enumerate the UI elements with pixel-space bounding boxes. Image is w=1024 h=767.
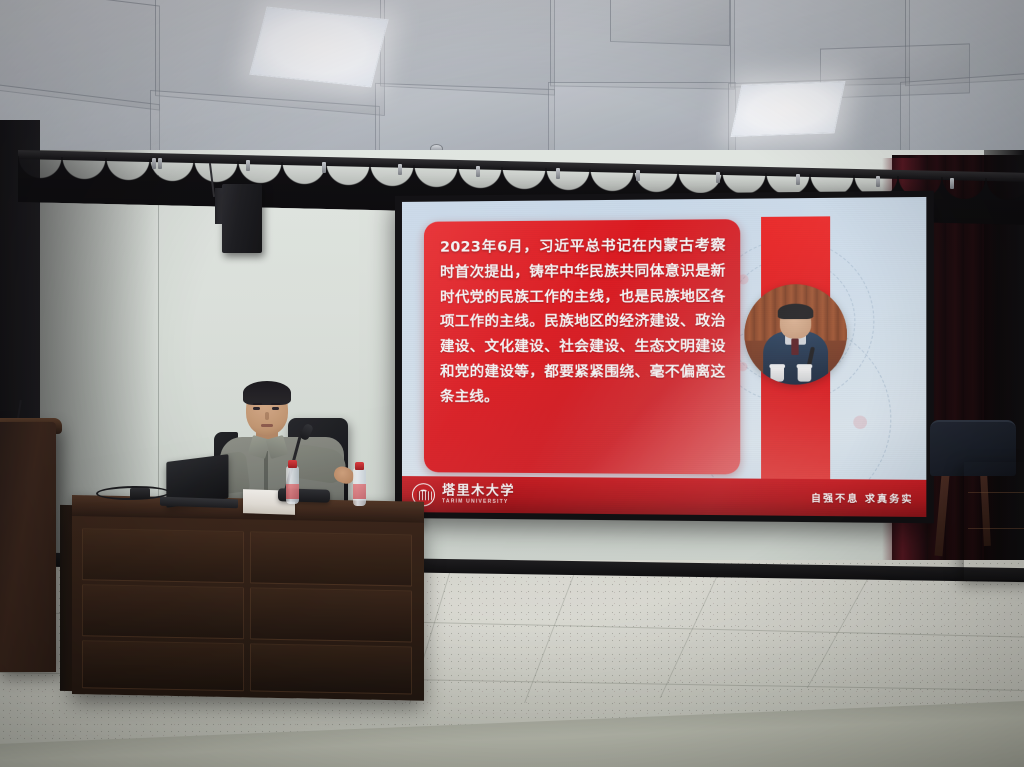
side-desk-seam bbox=[968, 492, 1024, 493]
curtain-clip-icon bbox=[796, 174, 800, 185]
water-bottle bbox=[353, 468, 366, 506]
portrait-teacup-icon bbox=[771, 367, 784, 382]
person-eye bbox=[272, 407, 279, 410]
ceiling bbox=[0, 0, 1024, 172]
desk-device bbox=[130, 488, 150, 499]
ceiling-light-panel-right bbox=[730, 81, 845, 137]
curtain-clip-icon bbox=[246, 160, 250, 171]
desk-panel bbox=[250, 643, 412, 694]
person-nose bbox=[265, 412, 269, 420]
desk-panel bbox=[82, 640, 244, 691]
slide-surface[interactable]: 2023年6月，习近平总书记在内蒙古考察时首次提出，铸牢中华民族共同体意识是新时… bbox=[402, 197, 926, 517]
slide-footer-bar: 塔里木大学 TARIM UNIVERSITY 自强不息 求真务实 bbox=[402, 476, 926, 517]
person-eye bbox=[253, 407, 260, 410]
curtain-clip-icon bbox=[476, 166, 480, 177]
portrait-tie bbox=[791, 338, 798, 354]
bottle-label bbox=[286, 484, 299, 499]
university-motto: 自强不息 求真务实 bbox=[811, 490, 914, 505]
person-hair bbox=[243, 381, 291, 405]
curtain-clip-icon bbox=[950, 178, 954, 189]
portrait-hair bbox=[778, 303, 813, 319]
side-desk bbox=[964, 462, 1024, 580]
desk-panel bbox=[82, 528, 244, 583]
university-branding: 塔里木大学 TARIM UNIVERSITY bbox=[412, 483, 515, 507]
bottle-label bbox=[353, 484, 366, 499]
curtain-clip-icon bbox=[716, 172, 720, 183]
person-mouth bbox=[261, 424, 273, 427]
wall-speaker bbox=[222, 184, 262, 253]
curtain-clip-icon bbox=[398, 164, 402, 175]
university-name-cn: 塔里木大学 bbox=[442, 484, 515, 498]
curtain-clip-icon bbox=[322, 162, 326, 173]
bottle-cap-icon bbox=[355, 462, 364, 470]
curtain-clip-icon bbox=[158, 158, 162, 169]
slide-highlight-1: 2023年6月，习近平总书记在内蒙 bbox=[440, 238, 679, 256]
water-bottle bbox=[286, 466, 299, 504]
person-eyebrow bbox=[271, 403, 280, 405]
university-name-block: 塔里木大学 TARIM UNIVERSITY bbox=[442, 484, 515, 505]
curtain-clip-icon bbox=[876, 176, 880, 187]
desk-panel bbox=[82, 584, 244, 639]
lecture-hall-scene: 2023年6月，习近平总书记在内蒙古考察时首次提出，铸牢中华民族共同体意识是新时… bbox=[0, 0, 1024, 767]
curtain-clip-icon bbox=[152, 158, 156, 169]
desk-panel bbox=[250, 587, 412, 642]
presentation-screen[interactable]: 2023年6月，习近平总书记在内蒙古考察时首次提出，铸牢中华民族共同体意识是新时… bbox=[395, 191, 934, 524]
slide-body-text: 2023年6月，习近平总书记在内蒙古考察时首次提出，铸牢中华民族共同体意识是新时… bbox=[440, 234, 726, 411]
decor-dot-icon bbox=[853, 416, 867, 429]
side-desk-seam bbox=[968, 528, 1024, 529]
curtain-clip-icon bbox=[556, 168, 560, 179]
leader-portrait bbox=[744, 284, 847, 385]
lectern[interactable] bbox=[0, 422, 56, 672]
curtain-clip-icon bbox=[636, 170, 640, 181]
portrait-teacup-icon bbox=[798, 367, 811, 382]
desk-front bbox=[72, 516, 424, 701]
slide-text-panel: 2023年6月，习近平总书记在内蒙古考察时首次提出，铸牢中华民族共同体意识是新时… bbox=[424, 219, 740, 474]
desk-panel bbox=[250, 531, 412, 586]
ceiling-light-panel-left bbox=[249, 7, 388, 88]
person-eyebrow bbox=[253, 403, 262, 405]
university-name-en: TARIM UNIVERSITY bbox=[442, 499, 515, 505]
bottle-cap-icon bbox=[288, 460, 297, 468]
